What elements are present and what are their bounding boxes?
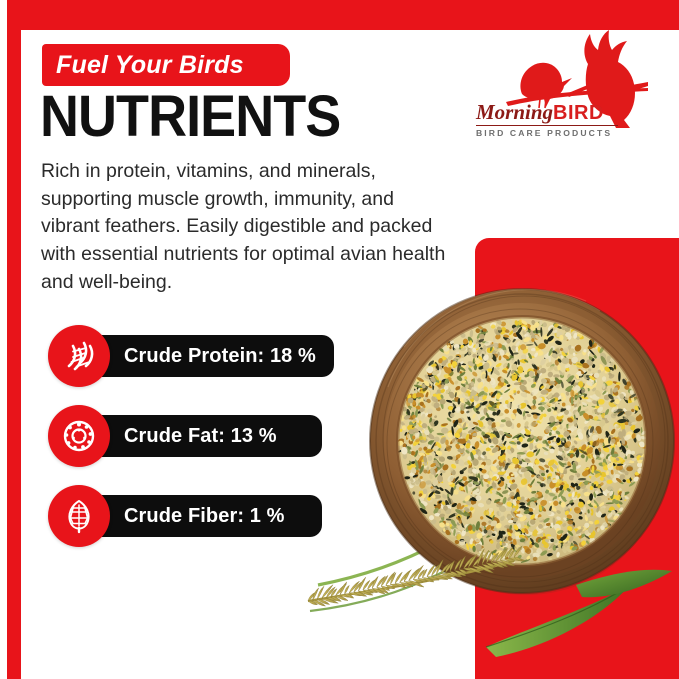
nutrient-badge: Crude Fiber: 1 % [48, 485, 322, 547]
nutrient-label: Crude Fiber: 1 % [124, 505, 285, 528]
description-text: Rich in protein, vitamins, and minerals,… [41, 158, 453, 296]
nutrient-label: Crude Protein: 18 % [124, 345, 316, 368]
logo-tagline: BIRD CARE PRODUCTS [476, 128, 626, 138]
dna-helix-icon [48, 325, 110, 387]
photo-illustration [300, 255, 679, 679]
page-title: NUTRIENTS [40, 88, 340, 146]
nutrient-badge: Crude Fat: 13 % [48, 405, 322, 467]
frame-top-bar [7, 0, 679, 30]
logo-wordmark: MorningBIRD BIRD CARE PRODUCTS [476, 102, 626, 138]
brand-logo: MorningBIRD BIRD CARE PRODUCTS [470, 28, 660, 156]
infographic-root: Fuel Your Birds NUTRIENTS Rich in protei… [0, 0, 679, 679]
logo-bold-word: BIRD [553, 102, 604, 124]
frame-left-bar [7, 0, 21, 679]
nutrient-label: Crude Fat: 13 % [124, 425, 277, 448]
logo-divider [476, 125, 618, 126]
logo-script-word: Morning [476, 100, 553, 124]
banner-fuel-your-birds: Fuel Your Birds [42, 44, 290, 86]
nutrient-pill: Crude Fat: 13 % [98, 415, 322, 457]
nutrient-badge: Crude Protein: 18 % [48, 325, 334, 387]
product-photo [300, 255, 679, 679]
nutrient-pill: Crude Fiber: 1 % [98, 495, 322, 537]
fat-globule-icon [48, 405, 110, 467]
nutrient-pill: Crude Protein: 18 % [98, 335, 334, 377]
banner-label: Fuel Your Birds [42, 51, 244, 80]
artichoke-fiber-icon [48, 485, 110, 547]
frame-notch [21, 30, 41, 48]
